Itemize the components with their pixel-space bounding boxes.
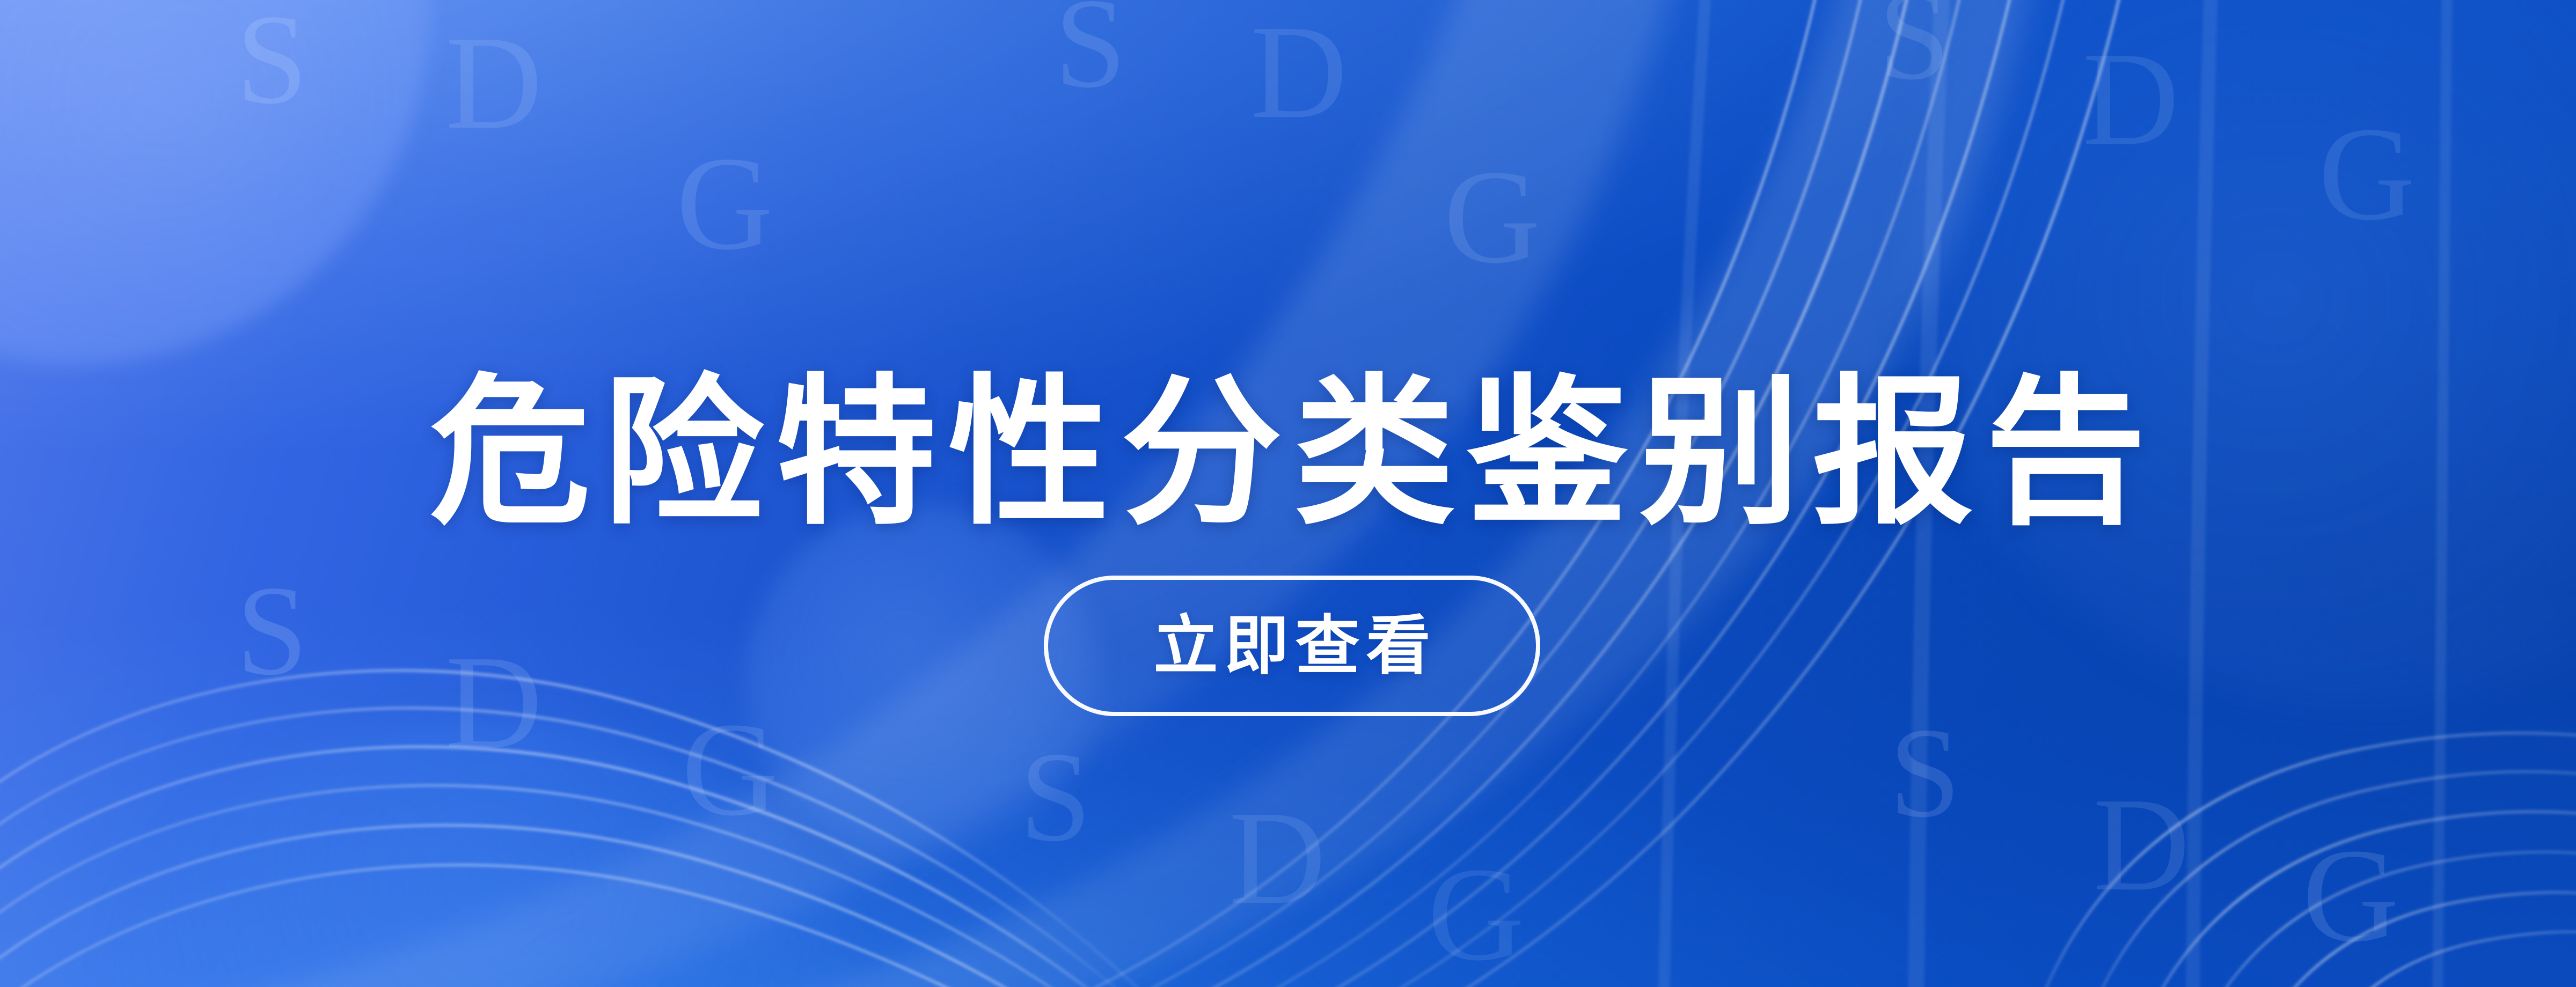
view-now-button[interactable]: 立即查看 — [1044, 576, 1540, 716]
view-now-button-label: 立即查看 — [1147, 614, 1437, 678]
promo-banner: SDGSDGSDGSDGSDGSDG 危险特性分类鉴别报告 立即查看 — [0, 0, 2576, 987]
banner-content: 危险特性分类鉴别报告 立即查看 — [0, 0, 2576, 987]
page-title: 危险特性分类鉴别报告 — [0, 361, 2576, 544]
